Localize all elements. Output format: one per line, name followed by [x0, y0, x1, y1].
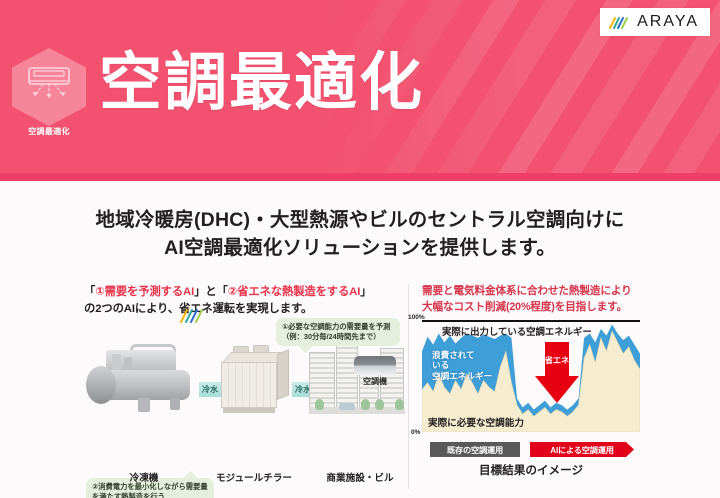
chiller-machine-illustration: [86, 344, 198, 416]
diagram-label-chiller: 冷凍機: [102, 470, 186, 484]
left-head-mid: 」と「: [194, 286, 228, 298]
slide: ARAYA 空調最適化 空調最適化 地域冷暖房(DHC)・大型熱源やビルのセント…: [0, 0, 720, 498]
chart-label-required-capacity: 実際に必要な空調能力: [428, 415, 524, 429]
legend-chip-existing: 既存の空調運用: [430, 442, 520, 457]
tree-icon: [375, 399, 384, 410]
chart-label-output-energy: 実際に出力している空調エネルギー: [442, 324, 592, 338]
left-head-highlight-2: ②省エネな熱製造をするAI: [228, 286, 361, 298]
machine-foot-2: [170, 398, 180, 410]
module-chiller-illustration: [217, 344, 291, 416]
tree-icon: [395, 399, 404, 410]
diagram-label-module-chiller: モジュールチラー: [202, 470, 306, 484]
machine-drum: [86, 366, 116, 404]
chart-legend: 既存の空調運用 AIによる空調運用: [424, 442, 642, 458]
left-head-highlight-1: ①需要を予測するAI: [95, 286, 194, 298]
energy-saving-arrow-icon: [534, 342, 580, 404]
araya-logo: ARAYA: [600, 8, 710, 36]
axis-tick-0: 0%: [411, 429, 420, 436]
right-panel-heading: 需要と電気料金体系に合わせた熱製造により 大幅なコスト削減(20%程度)を目指し…: [422, 284, 706, 316]
ac-unit-illustration: 空調機: [354, 356, 396, 386]
energy-area-chart: 100% 0% 実際に出力している空調エネルギー 浪費されている空調エネルギー …: [422, 320, 640, 432]
left-head-quote-close: 」: [360, 286, 371, 298]
ac-unit-label: 空調機: [352, 376, 398, 387]
badge-label: 空調最適化: [12, 126, 86, 137]
chart-caption: 目標結果のイメージ: [422, 462, 640, 478]
chiller-front-face: [221, 362, 277, 408]
tree-icon: [361, 399, 370, 410]
page-title: 空調最適化: [99, 52, 424, 115]
chiller-side-face: [277, 349, 289, 400]
araya-logo-text: ARAYA: [637, 13, 699, 31]
left-head-quote-open: 「: [84, 286, 95, 298]
subheadline-line2: AI空調最適化ソリューションを提供します。: [0, 234, 720, 262]
category-badge: 空調最適化: [12, 48, 86, 134]
chart-label-wasted-energy: 浪費されている空調エネルギー: [432, 350, 492, 381]
air-conditioner-icon: [25, 65, 73, 105]
energy-saving-arrow-label: 省エネ: [534, 354, 580, 366]
subheadline: 地域冷暖房(DHC)・大型熱源やビルのセントラル空調向けに AI空調最適化ソリュ…: [0, 206, 720, 263]
callout-predict-demand: ①必要な空調能力の需要量を予測（例：30分毎/24時間先まで）: [276, 318, 400, 346]
header-banner: ARAYA 空調最適化 空調最適化: [0, 0, 720, 181]
car-icon: [339, 403, 355, 410]
process-diagram: 冷水 冷水: [84, 322, 404, 457]
tree-icon: [315, 399, 324, 410]
subheadline-line1: 地域冷暖房(DHC)・大型熱源やビルのセントラル空調向けに: [0, 206, 720, 234]
header-bottom-rule: [0, 173, 720, 181]
right-head-line1: 需要と電気料金体系に合わせた熱製造により: [422, 284, 706, 300]
ac-unit-body: [354, 356, 396, 375]
machine-foot-1: [138, 398, 150, 412]
araya-stripes-icon: [608, 15, 630, 30]
right-panel: 需要と電気料金体系に合わせた熱製造により 大幅なコスト削減(20%程度)を目指し…: [422, 284, 706, 489]
chiller-base: [223, 408, 275, 413]
right-head-line2: 大幅なコスト削減(20%程度)を目指します。: [422, 300, 706, 316]
content-panels: 「①需要を予測するAI」と「②省エネな熱製造をするAI」 の2つのAIにより、省…: [0, 284, 720, 498]
left-head-line2: の2つのAIにより、省エネ運転を実現します。: [84, 301, 404, 318]
legend-chip-ai: AIによる空調運用: [530, 442, 634, 457]
araya-stripes-icon: [178, 308, 204, 324]
left-panel: 「①需要を予測するAI」と「②省エネな熱製造をするAI」 の2つのAIにより、省…: [84, 284, 404, 489]
diagram-label-buildings: 商業施設・ビル: [312, 470, 408, 484]
left-panel-heading: 「①需要を予測するAI」と「②省エネな熱製造をするAI」 の2つのAIにより、省…: [84, 284, 404, 318]
